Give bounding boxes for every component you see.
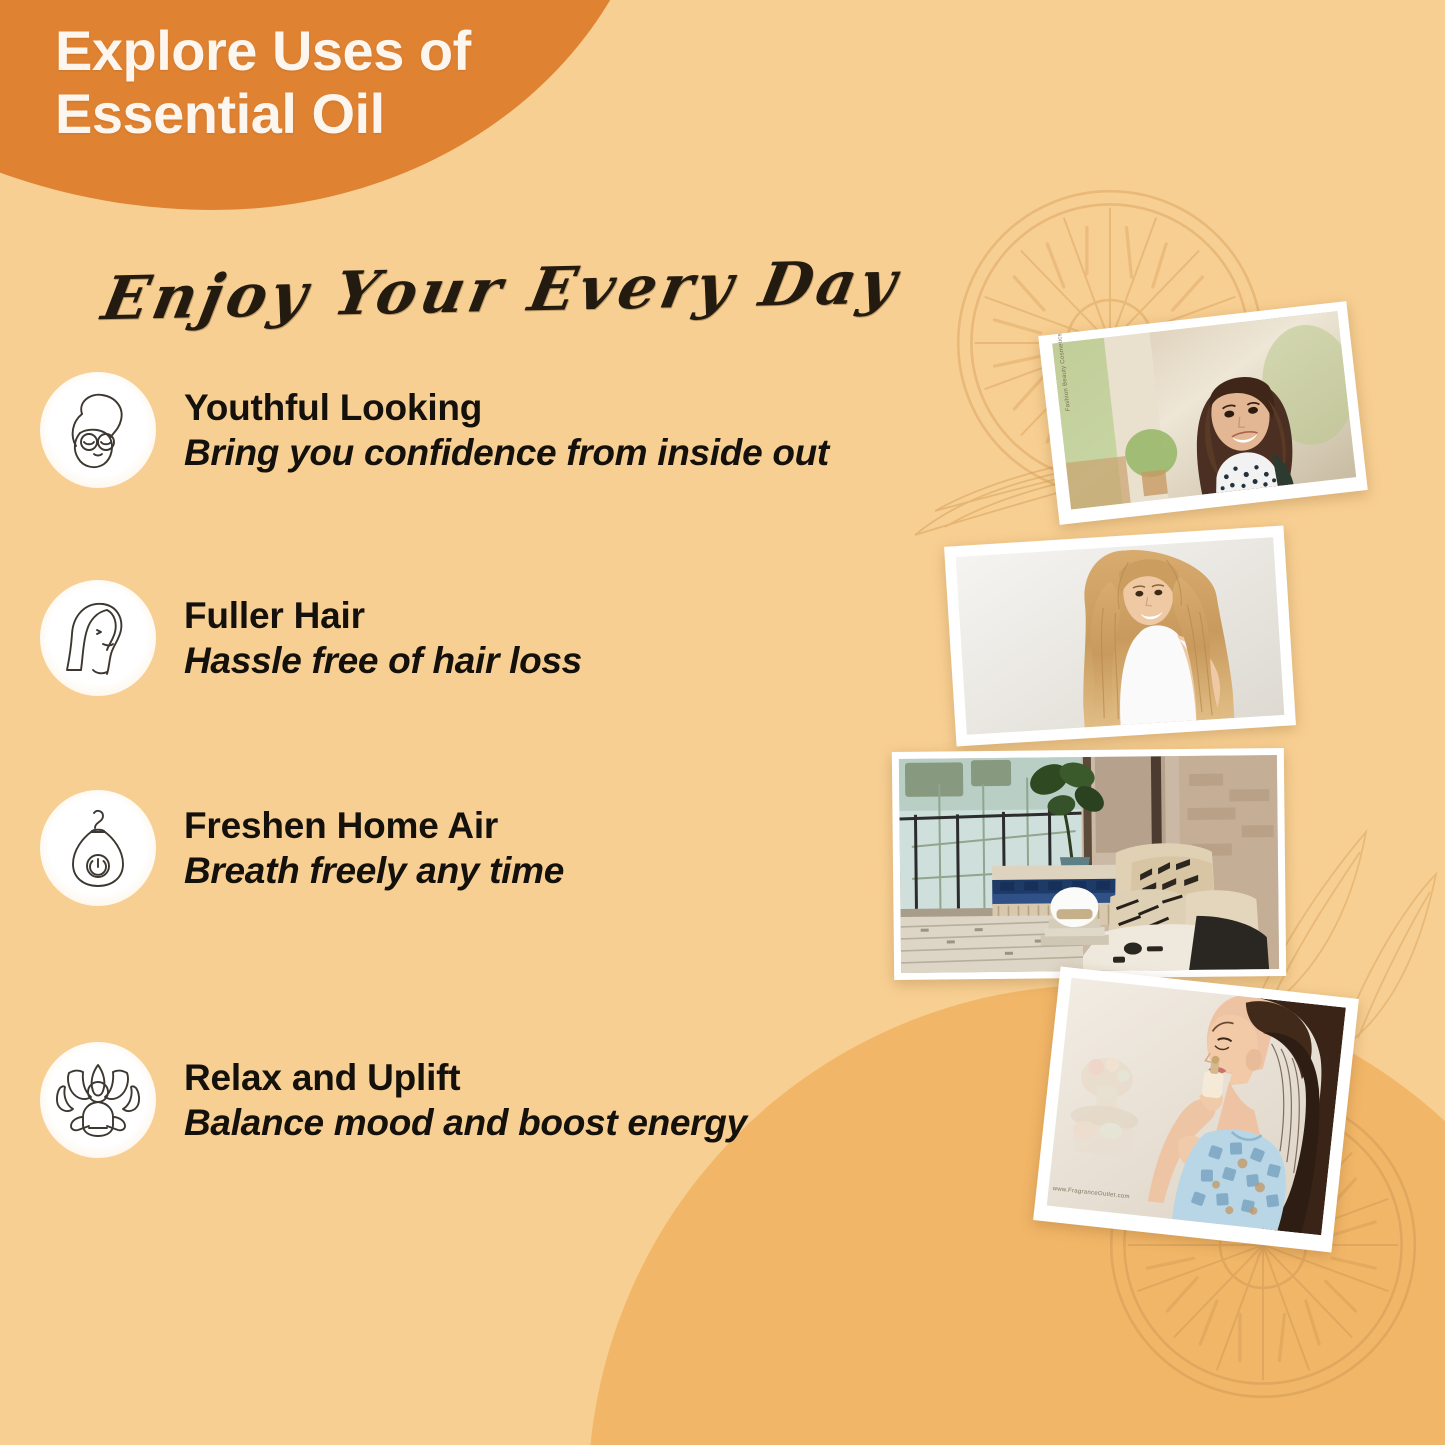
photo-boho-living-room-image — [899, 755, 1279, 973]
long-hair-profile-icon — [40, 580, 156, 696]
photo-blonde-long-hair-image — [956, 537, 1285, 735]
feature-title: Freshen Home Air — [184, 805, 564, 847]
feature-title: Youthful Looking — [184, 387, 829, 429]
feature-text: Youthful Looking Bring you confidence fr… — [184, 385, 829, 475]
face-mask-icon — [40, 372, 156, 488]
page-title-line-2: Essential Oil — [55, 83, 615, 146]
photo-smiling-woman: Fashion Beauty Cosmetics — [1038, 301, 1368, 525]
feature-subtitle: Balance mood and boost energy — [184, 1101, 747, 1145]
page-title-line-1: Explore Uses of — [55, 20, 615, 83]
feature-subtitle: Bring you confidence from inside out — [184, 431, 829, 475]
feature-text: Fuller Hair Hassle free of hair loss — [184, 593, 582, 683]
lotus-meditation-icon — [40, 1042, 156, 1158]
photo-woman-applying-perfume: www.FragranceOutlet.com — [1033, 967, 1359, 1253]
photo-smiling-woman-image — [1052, 311, 1356, 509]
feature-subtitle: Breath freely any time — [184, 849, 564, 893]
photo-woman-applying-perfume-image — [1047, 978, 1346, 1235]
feature-text: Freshen Home Air Breath freely any time — [184, 803, 564, 893]
photo-boho-living-room — [892, 748, 1286, 980]
feature-item-youthful-looking: Youthful Looking Bring you confidence fr… — [40, 372, 829, 488]
feature-text: Relax and Uplift Balance mood and boost … — [184, 1055, 747, 1145]
page-title: Explore Uses of Essential Oil — [55, 20, 615, 145]
aroma-diffuser-icon — [40, 790, 156, 906]
feature-title: Fuller Hair — [184, 595, 582, 637]
feature-item-freshen-home-air: Freshen Home Air Breath freely any time — [40, 790, 564, 906]
photo-blonde-long-hair — [944, 526, 1296, 747]
feature-item-relax-and-uplift: Relax and Uplift Balance mood and boost … — [40, 1042, 747, 1158]
feature-title: Relax and Uplift — [184, 1057, 747, 1099]
feature-item-fuller-hair: Fuller Hair Hassle free of hair loss — [40, 580, 582, 696]
feature-subtitle: Hassle free of hair loss — [184, 639, 582, 683]
